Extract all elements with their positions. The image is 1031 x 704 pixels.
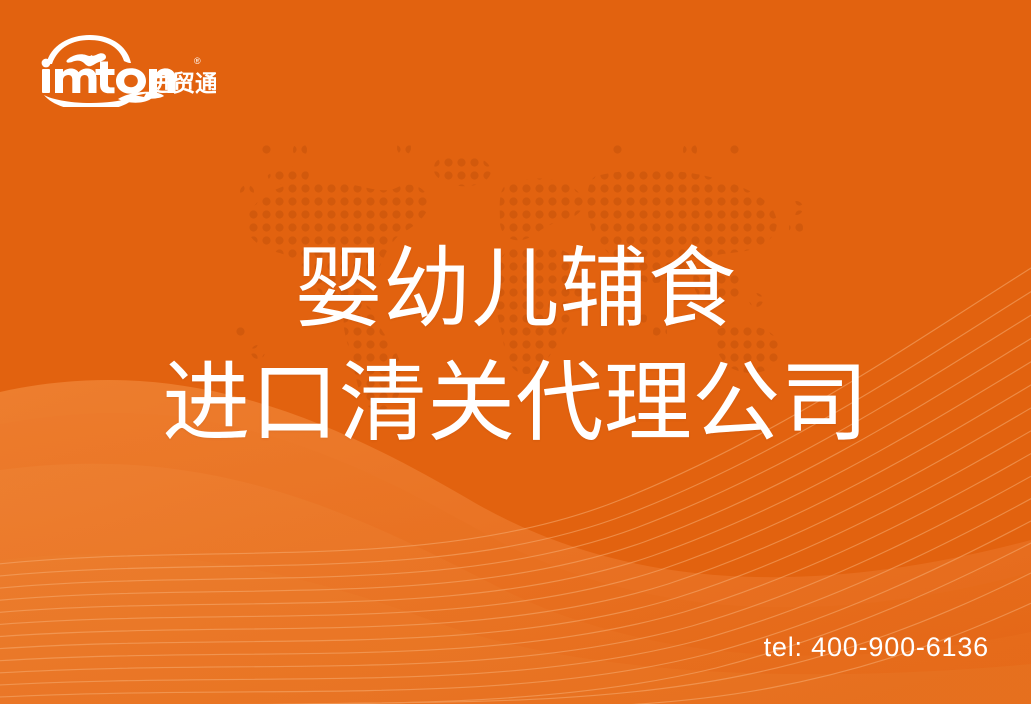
brand-logo[interactable]: 进贸通 ® [36,33,216,107]
page-title: 婴幼儿辅食 进口清关代理公司 [0,232,1031,461]
swoosh-icon [44,92,164,107]
headline-line-2: 进口清关代理公司 [0,346,1031,460]
headline-line-1: 婴幼儿辅食 [0,232,1031,346]
logo-chinese-name: 进贸通 [149,71,216,97]
globe-arc-icon [46,35,131,66]
registered-trademark-icon: ® [194,56,201,66]
promotional-banner: 进贸通 ® 婴幼儿辅食 进口清关代理公司 tel: 400-900-6136 [0,0,1031,704]
contact-phone[interactable]: tel: 400-900-6136 [764,632,989,663]
